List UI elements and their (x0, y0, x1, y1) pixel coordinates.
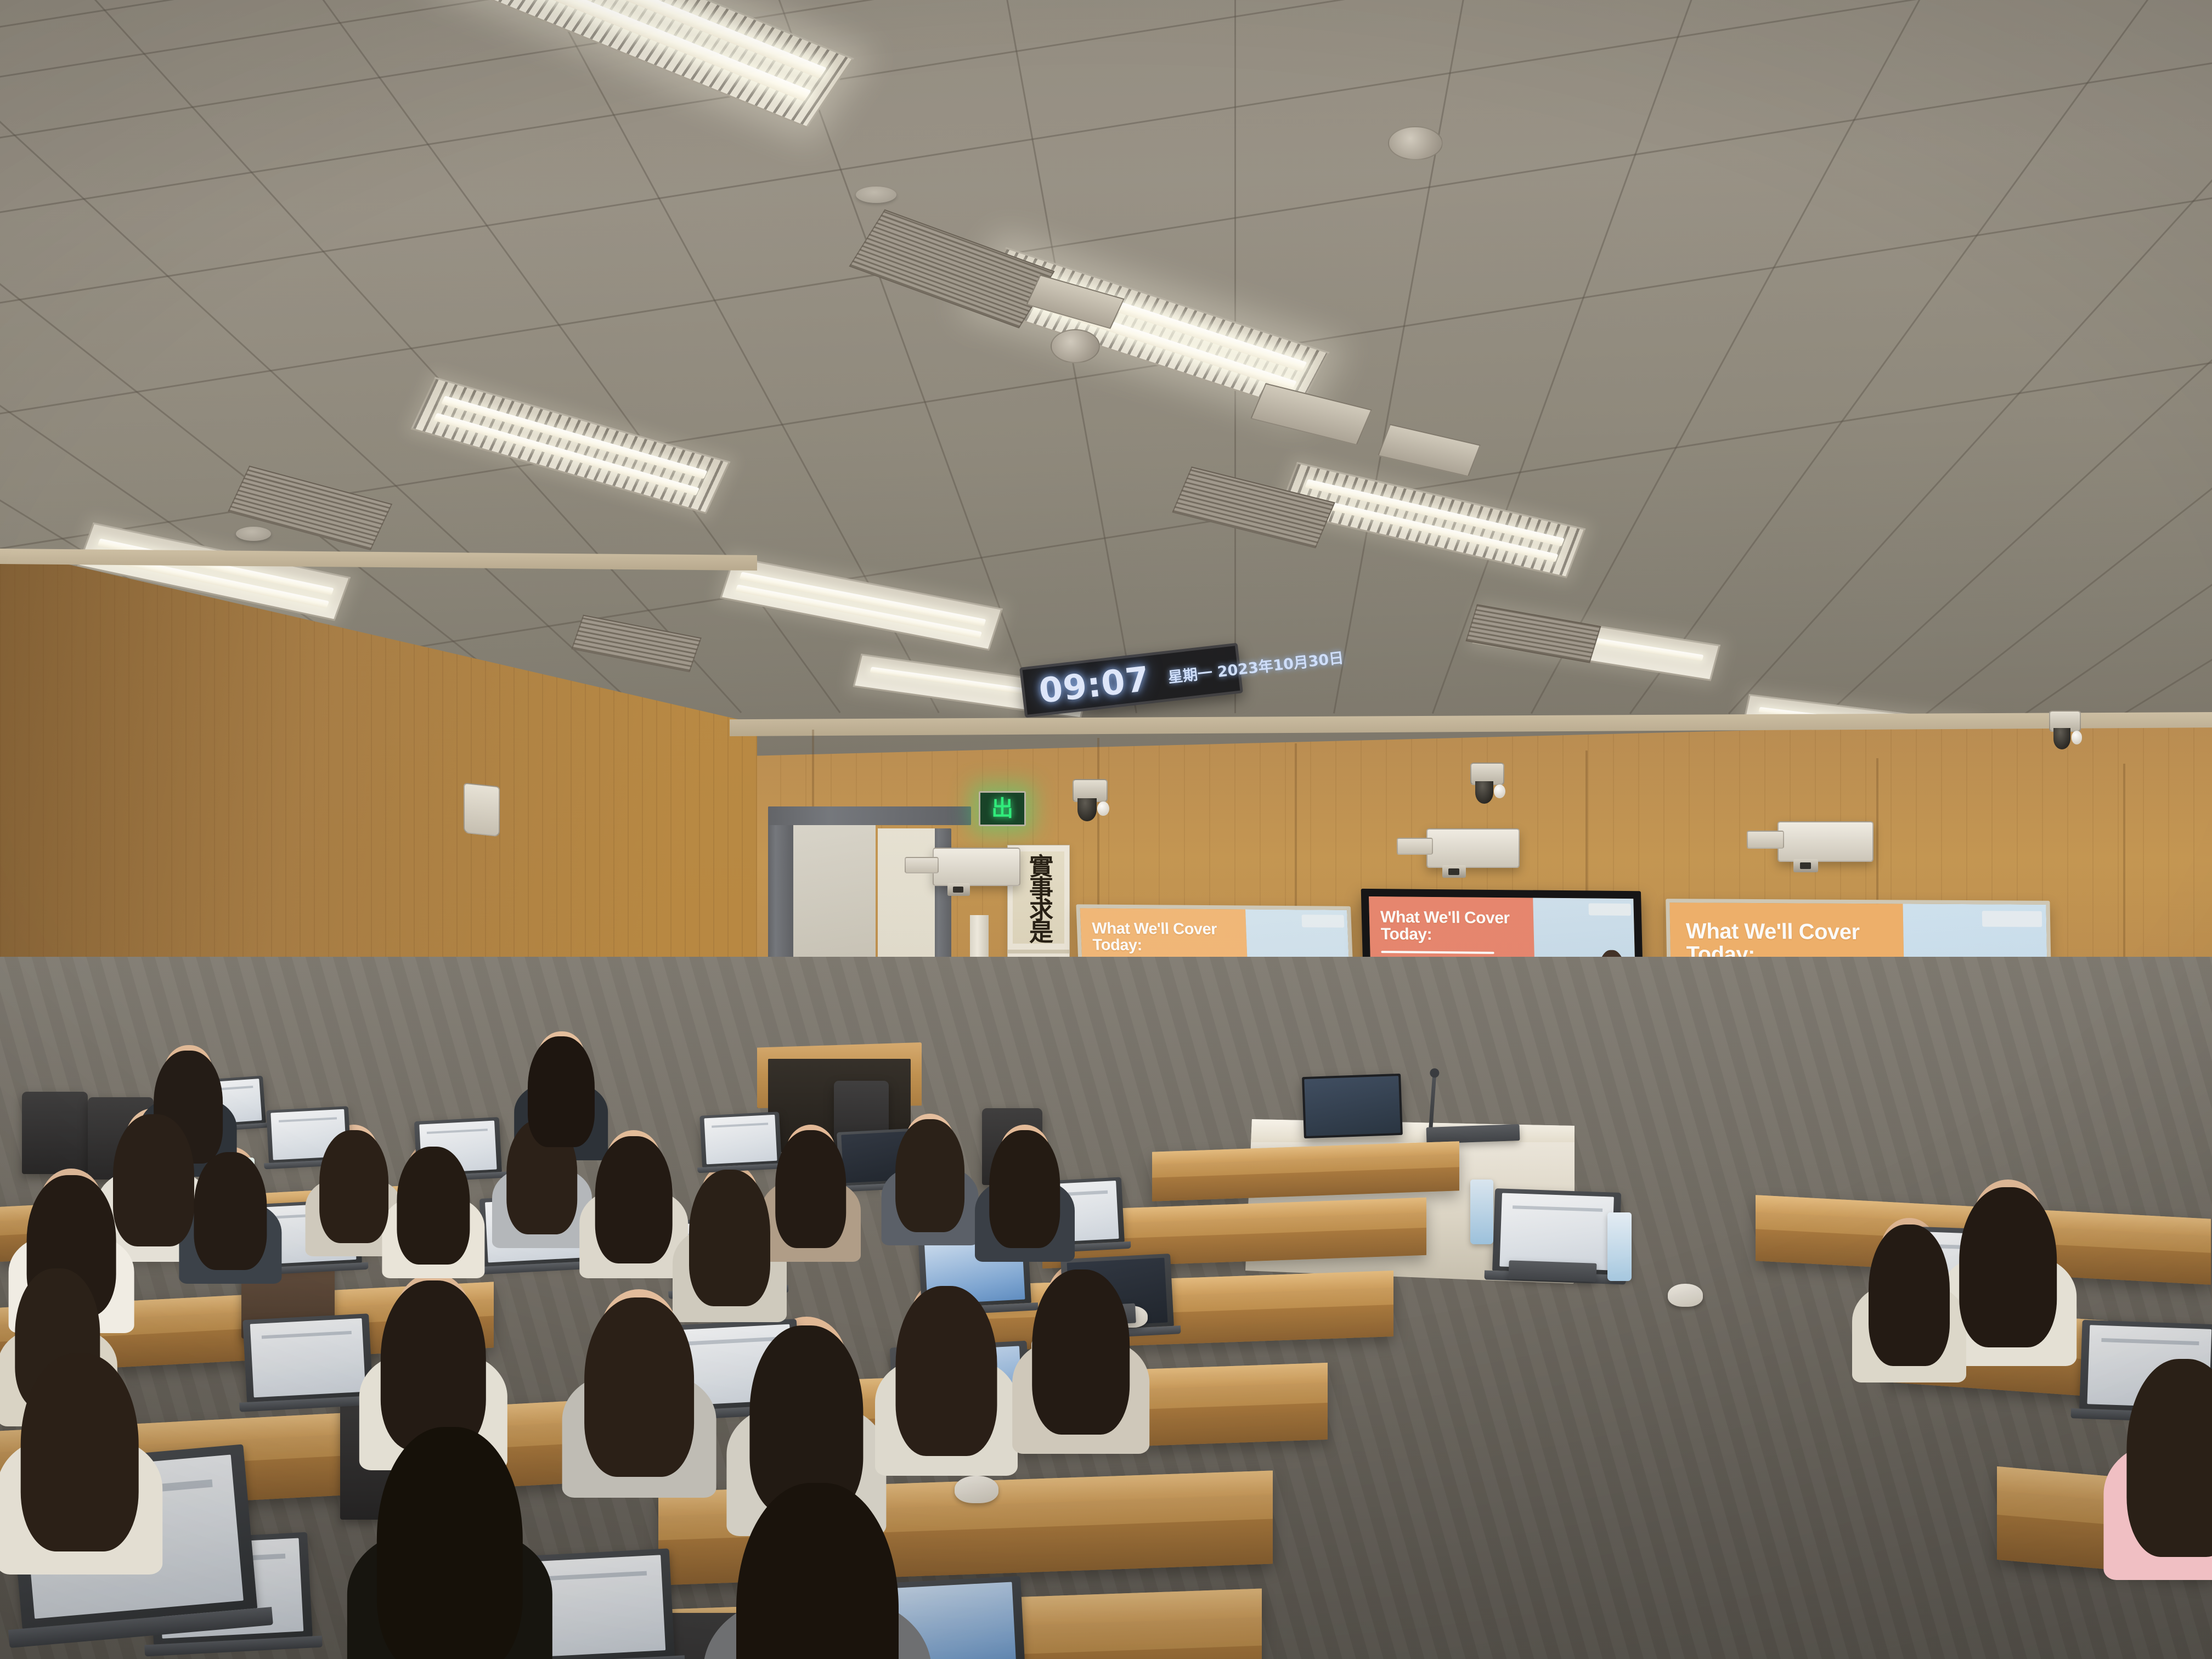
lecture-hall-photo: 09:07 星期一 2023年10月30日 出 實事求是 (0, 0, 2212, 1659)
camera-ir-bulb (1494, 785, 1505, 799)
ceiling-grid-line (1629, 0, 2212, 714)
video-name-chip (1588, 904, 1630, 916)
hair (194, 1152, 267, 1270)
water-bottle[interactable] (1470, 1180, 1493, 1244)
computer-mouse[interactable] (1668, 1284, 1703, 1307)
ultra-short-throw-projector-left (933, 848, 1020, 886)
ceiling-grid-line (0, 0, 2212, 95)
hair (1959, 1187, 2057, 1347)
hair (1869, 1224, 1950, 1366)
hair (381, 1280, 486, 1451)
scroll-rod (1008, 950, 1069, 953)
lectern-monitor (1302, 1074, 1403, 1138)
exit-sign-glyph: 出 (991, 798, 1013, 820)
slide-title-line1: What We'll Cover (1686, 919, 1892, 944)
wall-speaker-left (464, 783, 500, 837)
video-name-chip (1982, 911, 2042, 927)
laptop-lid (242, 1313, 373, 1402)
calligraphy-characters: 實事求是 (1026, 854, 1051, 941)
student-laptop[interactable] (699, 1111, 782, 1167)
camera-dome (1475, 781, 1493, 804)
ceiling-grid-line (1333, 0, 1494, 714)
projector-lens (1793, 859, 1818, 872)
projector-lens (947, 883, 970, 895)
dome-camera-left (1073, 779, 1108, 822)
student-laptop[interactable] (242, 1313, 373, 1402)
external-keyboard[interactable] (1508, 1260, 1596, 1282)
ceiling-grid-line (1827, 0, 2212, 714)
hair (113, 1114, 194, 1246)
camera-dome (1077, 798, 1097, 821)
hair (21, 1353, 139, 1551)
laptop-screen[interactable] (704, 1115, 777, 1164)
laptop-screen[interactable] (250, 1318, 365, 1397)
hair (527, 1036, 594, 1147)
hair (896, 1286, 997, 1456)
slide-divider (1381, 951, 1494, 954)
calligraphy-art: 實事求是 (1013, 851, 1064, 943)
hair (584, 1297, 694, 1477)
video-name-chip (1301, 915, 1344, 928)
projector-lens (1442, 865, 1466, 878)
ultra-short-throw-projector-far-right (1778, 821, 1874, 862)
smoke-detector (856, 187, 896, 203)
slide-title-line1: What We'll Cover (1380, 909, 1525, 927)
projector-mount-arm (1397, 838, 1433, 855)
ceiling-grid-line (0, 0, 2212, 45)
camera-dome (2053, 728, 2070, 749)
projector-mount-arm (1747, 831, 1784, 848)
water-bottle[interactable] (1607, 1212, 1632, 1281)
hair (775, 1130, 847, 1248)
exit-sign: 出 (979, 791, 1026, 826)
hair (689, 1170, 770, 1306)
dome-camera-far-right (2049, 710, 2081, 750)
hair (595, 1136, 673, 1263)
ceiling-grid-line (1728, 0, 2212, 714)
lectern-keyboard[interactable] (1426, 1124, 1520, 1144)
laptop-screen[interactable] (1499, 1193, 1614, 1271)
student-chair (22, 1092, 88, 1174)
ceiling-grid-line (0, 0, 2212, 4)
hair (377, 1427, 523, 1659)
computer-mouse[interactable] (955, 1476, 998, 1503)
hair (319, 1130, 388, 1243)
slide-title-line1: What We'll Cover (1092, 920, 1238, 938)
dome-camera-right (1470, 763, 1504, 804)
hair (895, 1119, 964, 1232)
clock-time: 09:07 (1037, 658, 1152, 710)
ceiling-speaker (1051, 329, 1100, 363)
lectern-monitor-screen[interactable] (1304, 1076, 1401, 1136)
ceiling-speaker (1388, 126, 1443, 160)
camera-ir-bulb (2072, 731, 2083, 744)
laptop-lid (699, 1111, 782, 1167)
ceiling-grid-line (0, 0, 2212, 321)
door-frame (768, 806, 971, 825)
projector-mount-arm (905, 857, 939, 873)
hair (397, 1147, 470, 1265)
slide-title-line2: Today: (1381, 926, 1526, 944)
hair (1032, 1269, 1130, 1435)
ceiling-grid-line (2123, 0, 2212, 715)
ultra-short-throw-projector-right (1426, 828, 1520, 868)
student (977, 1125, 1073, 1262)
camera-ir-bulb (1097, 802, 1109, 816)
smoke-detector (236, 527, 271, 541)
slide-title-line2: Today: (1092, 937, 1239, 955)
hair (989, 1130, 1060, 1248)
